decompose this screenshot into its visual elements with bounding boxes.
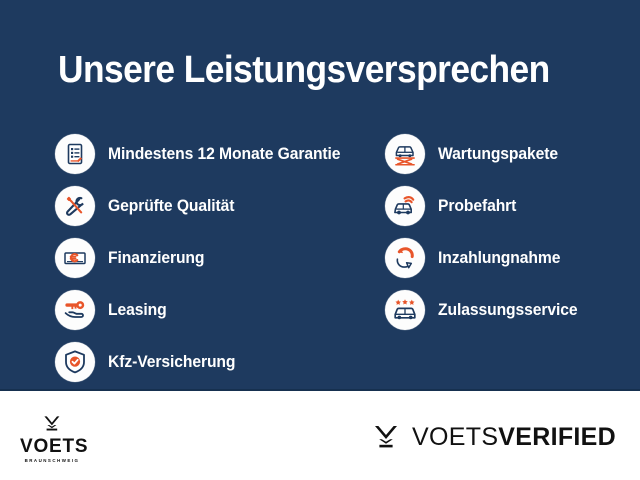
feature-label: Mindestens 12 Monate Garantie (108, 145, 340, 164)
feature-label: Zulassungsservice (438, 301, 578, 320)
verified-word-light: VOETS (412, 423, 498, 451)
shield-check-icon (55, 342, 95, 382)
feature-column-right: Wartungspakete Probefahrt (385, 128, 635, 336)
feature-label: Probefahrt (438, 197, 516, 216)
verified-word-bold: VERIFIED (498, 423, 616, 451)
footer-bar: VOETS BRAUNSCHWEIG VOETSVERIFIED (0, 391, 640, 480)
verified-wordmark: VOETSVERIFIED (412, 424, 616, 450)
car-speed-icon (385, 186, 425, 226)
key-in-hand-icon (55, 290, 95, 330)
feature-column-left: Mindestens 12 Monate Garantie (55, 128, 385, 388)
page-title: Unsere Leistungsversprechen (58, 48, 550, 92)
feature-label: Geprüfte Qualität (108, 197, 234, 216)
feature-item-wartungspakete[interactable]: Wartungspakete (385, 128, 635, 180)
feature-item-garantie[interactable]: Mindestens 12 Monate Garantie (55, 128, 385, 180)
voets-wordmark: VOETS (20, 437, 84, 457)
feature-item-probefahrt[interactable]: Probefahrt (385, 180, 635, 232)
wrench-screwdriver-icon (55, 186, 95, 226)
voets-chevron-mark (371, 424, 401, 450)
voets-dealer-logo[interactable]: VOETS BRAUNSCHWEIG (20, 416, 84, 464)
banknote-euro-icon (55, 238, 95, 278)
feature-item-zulassungsservice[interactable]: Zulassungsservice (385, 284, 635, 336)
feature-label: Leasing (108, 301, 167, 320)
feature-item-finanzierung[interactable]: Finanzierung (55, 232, 385, 284)
promise-poster: Unsere Leistungsversprechen (0, 0, 640, 480)
feature-label: Kfz-Versicherung (108, 353, 235, 372)
exchange-arrows-icon (385, 238, 425, 278)
feature-item-inzahlungnahme[interactable]: Inzahlungnahme (385, 232, 635, 284)
car-on-lift-icon (385, 134, 425, 174)
feature-label: Finanzierung (108, 249, 204, 268)
voets-verified-logo[interactable]: VOETSVERIFIED (371, 424, 616, 450)
document-checklist-pen-icon (55, 134, 95, 174)
voets-subtitle: BRAUNSCHWEIG (20, 457, 84, 464)
feature-label: Wartungspakete (438, 145, 558, 164)
navy-panel: Unsere Leistungsversprechen (0, 0, 640, 391)
car-three-stars-icon (385, 290, 425, 330)
feature-label: Inzahlungnahme (438, 249, 560, 268)
feature-item-qualitaet[interactable]: Geprüfte Qualität (55, 180, 385, 232)
feature-item-kfz-versicherung[interactable]: Kfz-Versicherung (55, 336, 385, 388)
voets-chevron-mark (41, 416, 63, 431)
feature-item-leasing[interactable]: Leasing (55, 284, 385, 336)
